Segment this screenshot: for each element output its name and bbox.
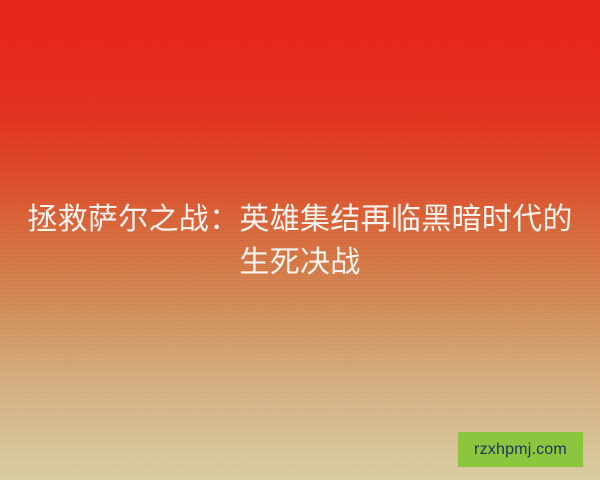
- poster-canvas: 拯救萨尔之战：英雄集结再临黑暗时代的生死决战 rzxhpmj.com: [0, 0, 600, 480]
- watermark-url-label: rzxhpmj.com: [474, 442, 567, 458]
- title-block: 拯救萨尔之战：英雄集结再临黑暗时代的生死决战: [0, 198, 600, 284]
- page-title: 拯救萨尔之战：英雄集结再临黑暗时代的生死决战: [22, 198, 578, 284]
- watermark-badge: rzxhpmj.com: [458, 432, 583, 467]
